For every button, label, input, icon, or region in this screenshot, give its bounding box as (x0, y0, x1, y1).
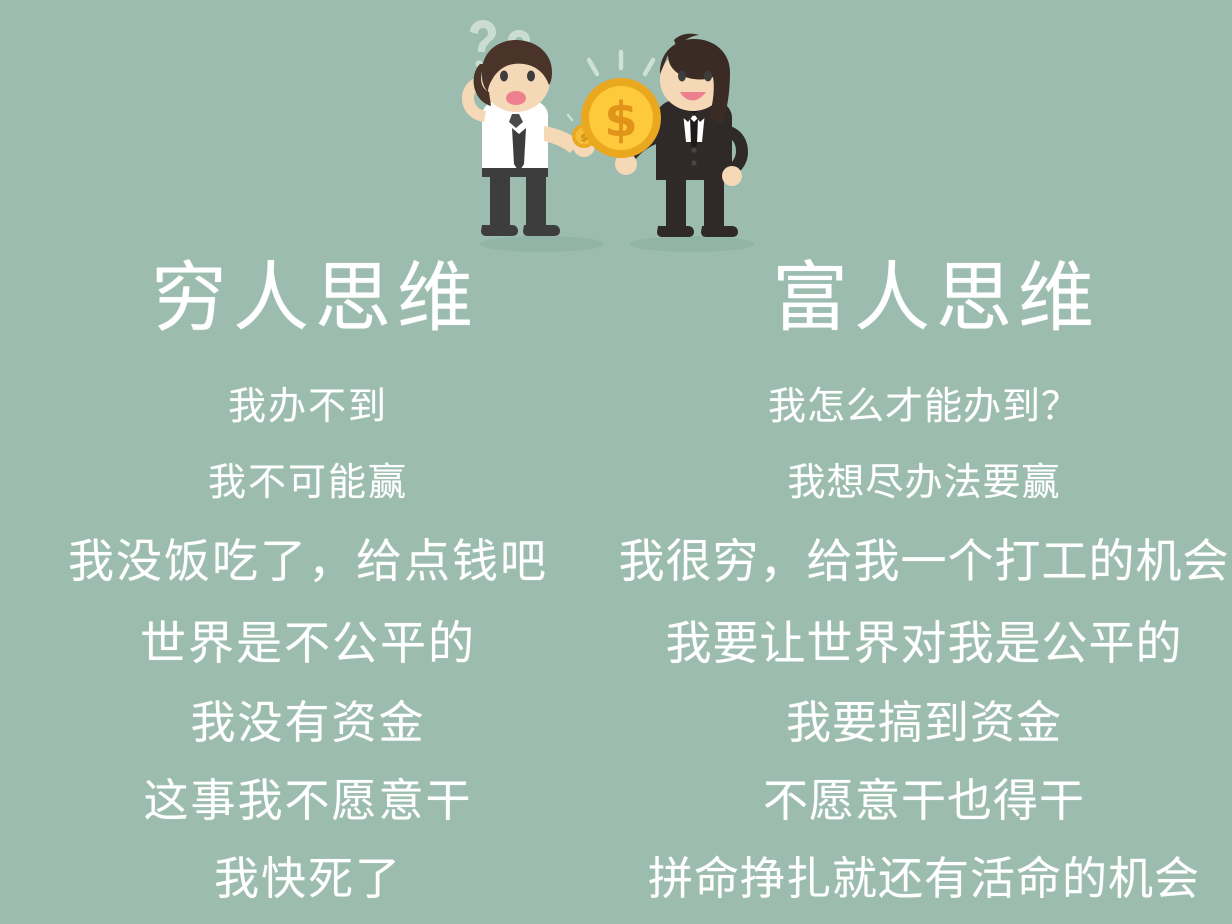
poor-mindset-line: 我没饭吃了，给点钱吧 (0, 520, 616, 602)
poor-mindset-line: 我办不到 (0, 368, 616, 444)
rich-mindset-line-list: 我怎么才能办到？ 我想尽办法要赢 我很穷，给我一个打工的机会 我要让世界对我是公… (616, 368, 1232, 918)
poor-mindset-line: 我快死了 (0, 840, 616, 918)
rich-mindset-line: 我要搞到资金 (616, 684, 1232, 762)
rich-mindset-line: 拼命挣扎就还有活命的机会 (616, 840, 1232, 918)
poor-mindset-line: 这事我不愿意干 (0, 762, 616, 840)
svg-text:$: $ (604, 92, 637, 148)
rich-mindset-heading: 富人思维 (616, 250, 1232, 346)
column-poor-mindset: 穷人思维 我办不到 我不可能赢 我没饭吃了，给点钱吧 世界是不公平的 我没有资金… (0, 250, 616, 918)
poster-canvas: $ (0, 0, 1232, 924)
column-rich-mindset: 富人思维 我怎么才能办到？ 我想尽办法要赢 我很穷，给我一个打工的机会 我要让世… (616, 250, 1232, 918)
poor-mindset-line-list: 我办不到 我不可能赢 我没饭吃了，给点钱吧 世界是不公平的 我没有资金 这事我不… (0, 368, 616, 918)
rich-mindset-line: 不愿意干也得干 (616, 762, 1232, 840)
rich-mindset-line: 我要让世界对我是公平的 (616, 602, 1232, 684)
poor-mindset-line: 世界是不公平的 (0, 602, 616, 684)
coin-sparkle-icon (589, 52, 653, 74)
poor-mindset-line: 我没有资金 (0, 684, 616, 762)
two-businessmen-coin-illustration: $ (434, 18, 800, 256)
poor-mindset-heading: 穷人思维 (0, 250, 616, 346)
rich-mindset-line: 我怎么才能办到？ (616, 368, 1232, 444)
confused-poor-businessman: $ (462, 40, 600, 236)
confident-rich-businessman: $ (581, 34, 748, 237)
rich-mindset-line: 我很穷，给我一个打工的机会 (616, 520, 1232, 602)
rich-mindset-line: 我想尽办法要赢 (616, 444, 1232, 520)
poor-mindset-line: 我不可能赢 (0, 444, 616, 520)
